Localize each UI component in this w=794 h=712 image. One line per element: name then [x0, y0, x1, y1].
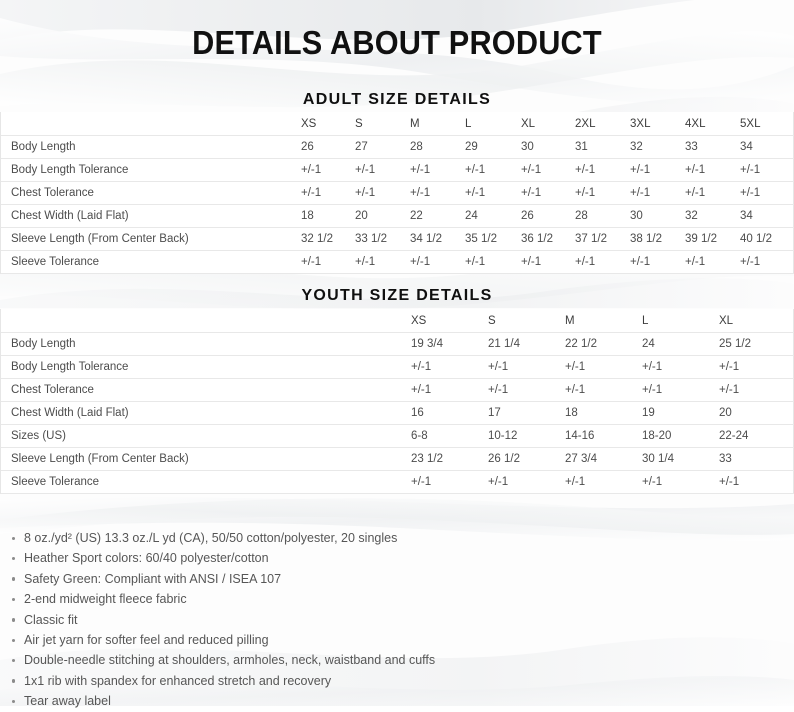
adult-table-header-row: XS S M L XL 2XL 3XL 4XL 5XL [1, 112, 794, 136]
adult-header-corner [1, 112, 301, 136]
youth-row-label: Chest Tolerance [1, 379, 411, 402]
adult-cell: 18 [301, 205, 355, 228]
table-row: Chest Tolerance +/-1 +/-1 +/-1 +/-1 +/-1 [1, 379, 794, 402]
list-item-label: Heather Sport colors: 60/40 polyester/co… [24, 551, 269, 565]
product-feature-list: 8 oz./yd² (US) 13.3 oz./L yd (CA), 50/50… [12, 528, 772, 712]
youth-cell: 23 1/2 [411, 448, 488, 471]
adult-row-label: Body Length Tolerance [1, 159, 301, 182]
adult-row-label: Chest Tolerance [1, 182, 301, 205]
youth-cell: 22 1/2 [565, 333, 642, 356]
adult-cell: 39 1/2 [685, 228, 740, 251]
youth-cell: 18 [565, 402, 642, 425]
adult-size-heading: ADULT SIZE DETAILS [0, 90, 794, 110]
adult-cell: 27 [355, 136, 410, 159]
adult-cell: +/-1 [685, 251, 740, 274]
list-item: Double-needle stitching at shoulders, ar… [12, 650, 772, 670]
adult-cell: +/-1 [465, 159, 521, 182]
adult-cell: 34 1/2 [410, 228, 465, 251]
adult-cell: 36 1/2 [521, 228, 575, 251]
adult-column-header-m: M [410, 112, 465, 136]
youth-cell: 33 [719, 448, 794, 471]
bullet-icon [12, 700, 15, 703]
adult-cell: 26 [521, 205, 575, 228]
youth-cell: 30 1/4 [642, 448, 719, 471]
bullet-icon [12, 577, 15, 580]
adult-column-header-s: S [355, 112, 410, 136]
youth-cell: 17 [488, 402, 565, 425]
youth-cell: 18-20 [642, 425, 719, 448]
adult-cell: 28 [575, 205, 630, 228]
list-item-label: Air jet yarn for softer feel and reduced… [24, 633, 269, 647]
adult-cell: 24 [465, 205, 521, 228]
youth-cell: 6-8 [411, 425, 488, 448]
adult-cell: +/-1 [521, 159, 575, 182]
youth-cell: 16 [411, 402, 488, 425]
bullet-icon [12, 557, 15, 560]
youth-cell: 19 [642, 402, 719, 425]
youth-cell: +/-1 [642, 356, 719, 379]
youth-header-corner [1, 309, 411, 333]
adult-cell: +/-1 [410, 182, 465, 205]
youth-size-heading: YOUTH SIZE DETAILS [0, 286, 794, 306]
youth-cell: 24 [642, 333, 719, 356]
list-item-label: Safety Green: Compliant with ANSI / ISEA… [24, 572, 281, 586]
adult-cell: 22 [410, 205, 465, 228]
adult-column-header-5xl: 5XL [740, 112, 794, 136]
adult-cell: 34 [740, 205, 794, 228]
youth-cell: +/-1 [488, 379, 565, 402]
youth-cell: 22-24 [719, 425, 794, 448]
table-row: Chest Tolerance +/-1 +/-1 +/-1 +/-1 +/-1… [1, 182, 794, 205]
youth-cell: +/-1 [719, 379, 794, 402]
adult-cell: +/-1 [521, 251, 575, 274]
youth-row-label: Body Length [1, 333, 411, 356]
adult-cell: +/-1 [685, 159, 740, 182]
adult-cell: 34 [740, 136, 794, 159]
youth-column-header-l: L [642, 309, 719, 333]
adult-cell: +/-1 [301, 182, 355, 205]
table-row: Sleeve Tolerance +/-1 +/-1 +/-1 +/-1 +/-… [1, 251, 794, 274]
youth-cell: +/-1 [411, 471, 488, 494]
adult-cell: 32 [630, 136, 685, 159]
adult-cell: +/-1 [630, 182, 685, 205]
adult-cell: 40 1/2 [740, 228, 794, 251]
youth-cell: +/-1 [719, 471, 794, 494]
list-item: 8 oz./yd² (US) 13.3 oz./L yd (CA), 50/50… [12, 528, 772, 548]
adult-cell: 38 1/2 [630, 228, 685, 251]
youth-cell: +/-1 [565, 471, 642, 494]
adult-column-header-l: L [465, 112, 521, 136]
youth-cell: +/-1 [488, 356, 565, 379]
youth-cell: +/-1 [411, 356, 488, 379]
adult-row-label: Sleeve Length (From Center Back) [1, 228, 301, 251]
adult-cell: +/-1 [740, 251, 794, 274]
youth-row-label: Sleeve Tolerance [1, 471, 411, 494]
adult-cell: 20 [355, 205, 410, 228]
list-item-label: 8 oz./yd² (US) 13.3 oz./L yd (CA), 50/50… [24, 531, 397, 545]
adult-cell: +/-1 [685, 182, 740, 205]
list-item: 1x1 rib with spandex for enhanced stretc… [12, 671, 772, 691]
bullet-icon [12, 659, 15, 662]
bullet-icon [12, 598, 15, 601]
table-row: Body Length 19 3/4 21 1/4 22 1/2 24 25 1… [1, 333, 794, 356]
list-item-label: Classic fit [24, 613, 77, 627]
adult-cell: +/-1 [575, 159, 630, 182]
table-row: Sleeve Tolerance +/-1 +/-1 +/-1 +/-1 +/-… [1, 471, 794, 494]
table-row: Body Length 26 27 28 29 30 31 32 33 34 [1, 136, 794, 159]
list-item-label: Double-needle stitching at shoulders, ar… [24, 653, 435, 667]
adult-cell: +/-1 [575, 251, 630, 274]
youth-row-label: Sizes (US) [1, 425, 411, 448]
adult-cell: +/-1 [575, 182, 630, 205]
adult-cell: +/-1 [355, 159, 410, 182]
youth-table-header-row: XS S M L XL [1, 309, 794, 333]
adult-column-header-xs: XS [301, 112, 355, 136]
youth-cell: +/-1 [642, 379, 719, 402]
youth-cell: 14-16 [565, 425, 642, 448]
list-item: Tear away label [12, 691, 772, 711]
adult-cell: +/-1 [740, 182, 794, 205]
adult-cell: 32 [685, 205, 740, 228]
adult-column-header-3xl: 3XL [630, 112, 685, 136]
youth-cell: 19 3/4 [411, 333, 488, 356]
youth-column-header-xs: XS [411, 309, 488, 333]
adult-cell: +/-1 [740, 159, 794, 182]
list-item: 2-end midweight fleece fabric [12, 589, 772, 609]
adult-cell: +/-1 [355, 251, 410, 274]
youth-cell: +/-1 [488, 471, 565, 494]
table-row: Sleeve Length (From Center Back) 23 1/2 … [1, 448, 794, 471]
bullet-icon [12, 618, 15, 621]
youth-cell: 26 1/2 [488, 448, 565, 471]
list-item: Air jet yarn for softer feel and reduced… [12, 630, 772, 650]
adult-column-header-2xl: 2XL [575, 112, 630, 136]
table-row: Sizes (US) 6-8 10-12 14-16 18-20 22-24 [1, 425, 794, 448]
table-row: Chest Width (Laid Flat) 16 17 18 19 20 [1, 402, 794, 425]
adult-cell: +/-1 [301, 251, 355, 274]
adult-row-label: Sleeve Tolerance [1, 251, 301, 274]
adult-size-table-container: XS S M L XL 2XL 3XL 4XL 5XL Body Length … [0, 112, 794, 274]
youth-column-header-m: M [565, 309, 642, 333]
adult-cell: 37 1/2 [575, 228, 630, 251]
adult-cell: +/-1 [410, 159, 465, 182]
youth-cell: 25 1/2 [719, 333, 794, 356]
youth-size-table-container: XS S M L XL Body Length 19 3/4 21 1/4 22… [0, 309, 794, 494]
youth-cell: +/-1 [411, 379, 488, 402]
adult-size-table: XS S M L XL 2XL 3XL 4XL 5XL Body Length … [1, 112, 794, 274]
youth-cell: +/-1 [565, 379, 642, 402]
youth-cell: 10-12 [488, 425, 565, 448]
youth-cell: 21 1/4 [488, 333, 565, 356]
table-row: Sleeve Length (From Center Back) 32 1/2 … [1, 228, 794, 251]
youth-column-header-s: S [488, 309, 565, 333]
table-row: Chest Width (Laid Flat) 18 20 22 24 26 2… [1, 205, 794, 228]
adult-cell: 31 [575, 136, 630, 159]
adult-column-header-4xl: 4XL [685, 112, 740, 136]
bullet-icon [12, 679, 15, 682]
bullet-icon [12, 639, 15, 642]
list-item-label: Tear away label [24, 694, 111, 708]
adult-column-header-xl: XL [521, 112, 575, 136]
adult-table-body: Body Length 26 27 28 29 30 31 32 33 34 B… [1, 136, 794, 274]
adult-cell: 26 [301, 136, 355, 159]
adult-cell: 33 [685, 136, 740, 159]
youth-cell: 27 3/4 [565, 448, 642, 471]
youth-size-table: XS S M L XL Body Length 19 3/4 21 1/4 22… [1, 309, 794, 494]
adult-cell: 30 [630, 205, 685, 228]
youth-row-label: Chest Width (Laid Flat) [1, 402, 411, 425]
youth-column-header-xl: XL [719, 309, 794, 333]
table-row: Body Length Tolerance +/-1 +/-1 +/-1 +/-… [1, 356, 794, 379]
list-item-label: 2-end midweight fleece fabric [24, 592, 187, 606]
adult-cell: 32 1/2 [301, 228, 355, 251]
youth-row-label: Sleeve Length (From Center Back) [1, 448, 411, 471]
list-item: Heather Sport colors: 60/40 polyester/co… [12, 548, 772, 568]
youth-table-body: Body Length 19 3/4 21 1/4 22 1/2 24 25 1… [1, 333, 794, 494]
adult-cell: 35 1/2 [465, 228, 521, 251]
adult-cell: +/-1 [630, 251, 685, 274]
adult-cell: 30 [521, 136, 575, 159]
list-item-label: 1x1 rib with spandex for enhanced stretc… [24, 674, 331, 688]
adult-cell: 29 [465, 136, 521, 159]
adult-cell: +/-1 [465, 182, 521, 205]
table-row: Body Length Tolerance +/-1 +/-1 +/-1 +/-… [1, 159, 794, 182]
adult-cell: +/-1 [521, 182, 575, 205]
adult-cell: +/-1 [301, 159, 355, 182]
adult-row-label: Body Length [1, 136, 301, 159]
bullet-icon [12, 537, 15, 540]
youth-row-label: Body Length Tolerance [1, 356, 411, 379]
list-item: Safety Green: Compliant with ANSI / ISEA… [12, 569, 772, 589]
adult-cell: +/-1 [465, 251, 521, 274]
youth-cell: +/-1 [642, 471, 719, 494]
list-item: Classic fit [12, 610, 772, 630]
youth-cell: 20 [719, 402, 794, 425]
youth-cell: +/-1 [565, 356, 642, 379]
adult-row-label: Chest Width (Laid Flat) [1, 205, 301, 228]
youth-cell: +/-1 [719, 356, 794, 379]
adult-cell: 33 1/2 [355, 228, 410, 251]
adult-cell: +/-1 [410, 251, 465, 274]
adult-cell: 28 [410, 136, 465, 159]
page-title: DETAILS ABOUT PRODUCT [28, 24, 766, 62]
adult-cell: +/-1 [355, 182, 410, 205]
adult-cell: +/-1 [630, 159, 685, 182]
